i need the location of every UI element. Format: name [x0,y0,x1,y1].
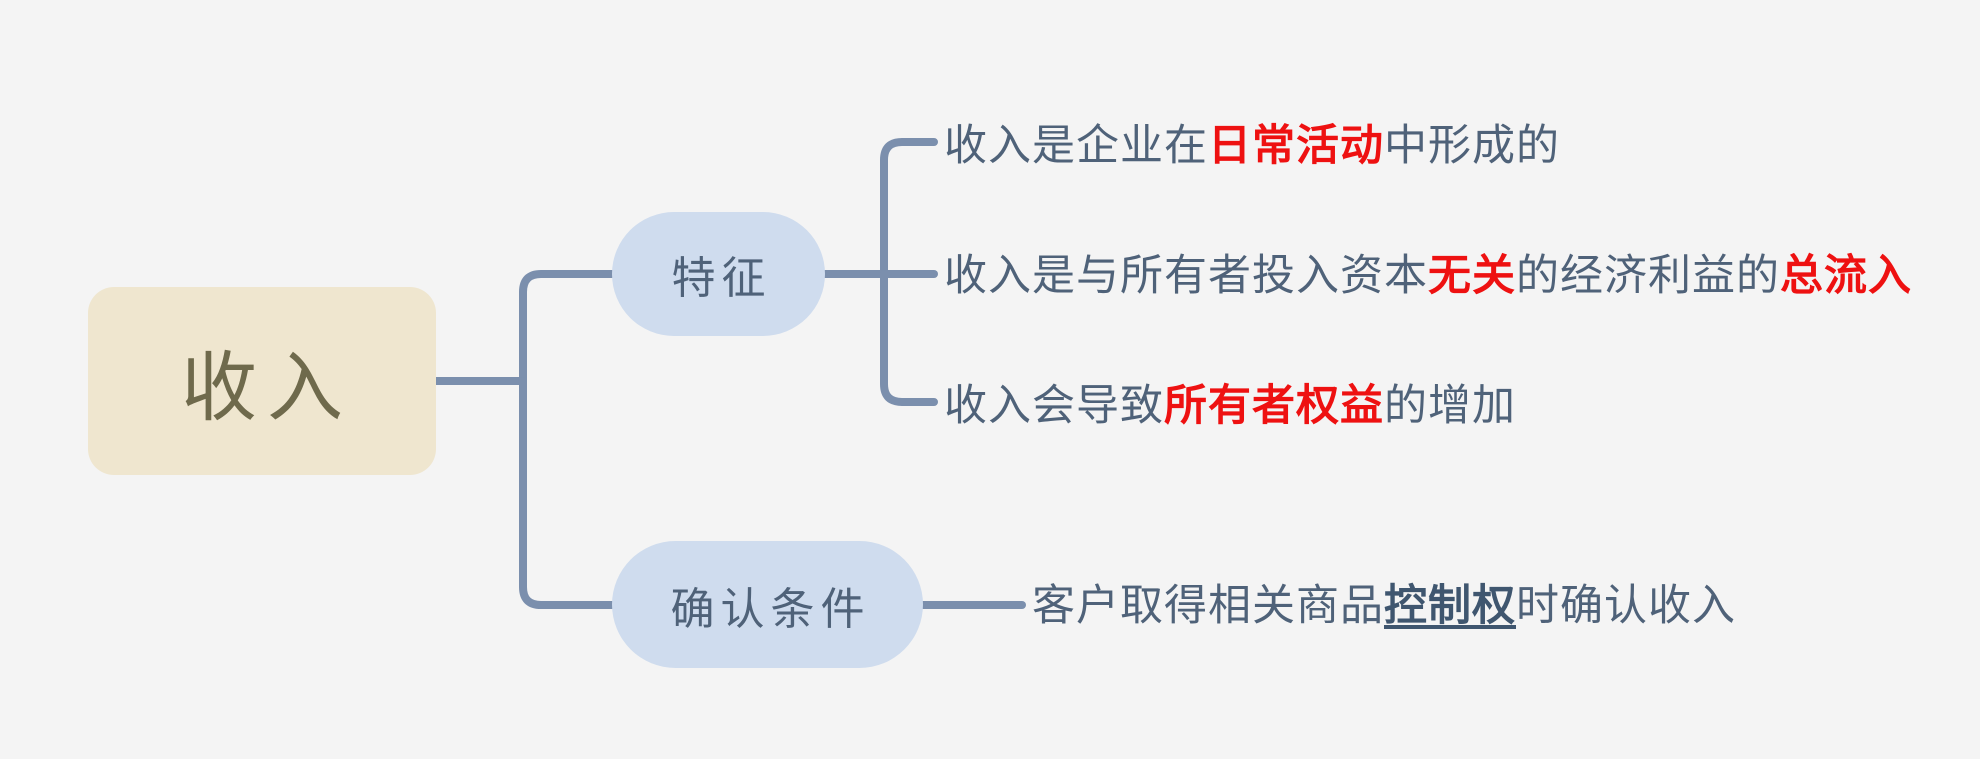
leaf-text-features-0[interactable]: 收入是企业在日常活动中形成的 [944,125,1560,168]
connector-branch-0-to-leaf-0 [884,142,934,274]
connector-group-root [436,274,612,605]
leaf-text-features-1[interactable]: 收入是与所有者投入资本无关的经济利益的总流入 [944,255,1912,298]
text-segment-1: 所有者权益 [1164,382,1384,430]
text-segment-0: 客户取得相关商品 [1032,582,1384,630]
connector-branch-0-to-leaf-2 [884,274,934,402]
root-node-label: 收入 [171,326,353,436]
text-segment-2: 中形成的 [1384,122,1560,170]
text-segment-3: 总流入 [1780,252,1912,300]
root-node[interactable]: 收入 [88,287,436,475]
branch-node-features[interactable]: 特征 [612,212,825,336]
text-segment-0: 收入是企业在 [944,122,1208,170]
branch-node-recognition-conditions[interactable]: 确认条件 [612,541,923,668]
mind-map-canvas: 收入 特征 确认条件 收入是企业在日常活动中形成的 收入是与所有者投入资本无关的… [0,0,1980,759]
connector-root-to-branch-1 [523,381,612,605]
text-segment-2: 时确认收入 [1516,582,1736,630]
text-segment-2: 的经济利益的 [1516,252,1780,300]
branch-node-recognition-conditions-label: 确认条件 [665,573,871,637]
text-segment-1: 日常活动 [1208,122,1384,170]
text-segment-1: 无关 [1428,252,1516,300]
text-segment-2: 的增加 [1384,382,1516,430]
connector-group-branch-0 [825,142,934,402]
leaf-text-features-2[interactable]: 收入会导致所有者权益的增加 [944,385,1516,428]
text-segment-1: 控制权 [1384,582,1516,630]
branch-node-features-label: 特征 [666,242,772,306]
connector-root-to-branch-0 [523,274,612,381]
leaf-text-recognition-conditions-0[interactable]: 客户取得相关商品控制权时确认收入 [1032,585,1736,628]
text-segment-0: 收入是与所有者投入资本 [944,252,1428,300]
text-segment-0: 收入会导致 [944,382,1164,430]
